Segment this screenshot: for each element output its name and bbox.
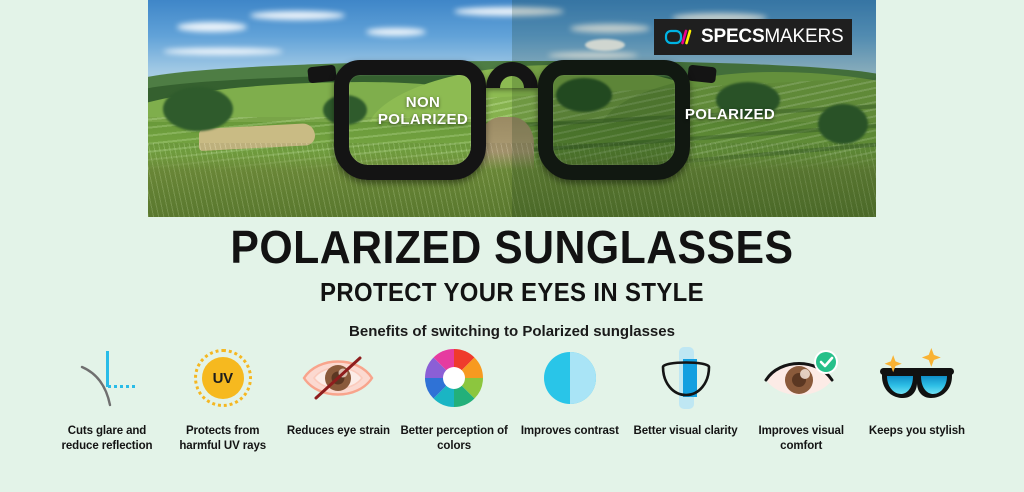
benefit-label: Better visual clarity [631, 424, 741, 439]
benefit-label: Reduces eye strain [283, 424, 393, 439]
specsmakers-logo-text: SPECSMAKERS [701, 26, 843, 48]
sunglasses-sparkle-icon [874, 350, 960, 406]
benefit-item-uv-protection: UV Protects from harmful UV rays [168, 342, 278, 454]
benefit-label: Cuts glare and reduce reflection [52, 424, 162, 454]
nose-bridge [486, 62, 538, 88]
benefit-icon-wrap [862, 342, 972, 414]
temple-right [687, 65, 717, 84]
logo-brand-light: MAKERS [764, 26, 843, 47]
lens-label-non-polarized: NON POLARIZED [358, 94, 488, 129]
benefit-label: Protects from harmful UV rays [168, 424, 278, 454]
benefits-row: Cuts glare and reduce reflection UV Prot… [52, 342, 972, 454]
page-tagline: Benefits of switching to Polarized sungl… [0, 323, 1024, 340]
temple-left [307, 65, 337, 84]
benefit-item-visual-clarity: Better visual clarity [631, 342, 741, 439]
glare-reflection-icon [76, 347, 138, 409]
title-block: POLARIZED SUNGLASSES PROTECT YOUR EYES I… [0, 224, 1024, 340]
page-subtitle: PROTECT YOUR EYES IN STYLE [41, 279, 983, 305]
glare-horizontal-dotted-ray [108, 385, 136, 388]
benefit-icon-wrap [399, 342, 509, 414]
cloud [250, 11, 345, 20]
benefit-icon-wrap: UV [168, 342, 278, 414]
benefit-label: Keeps you stylish [862, 424, 972, 439]
benefit-item-eye-strain: Reduces eye strain [283, 342, 393, 439]
lens-label-line-1: NON [358, 94, 488, 111]
benefit-icon-wrap [52, 342, 162, 414]
specsmakers-logo[interactable]: SPECSMAKERS [654, 19, 852, 55]
infographic-page: NON POLARIZED POLARIZED SPECSMAKERS POLA… [0, 0, 1024, 492]
tree-clump [163, 87, 233, 131]
hero-landscape-image: NON POLARIZED POLARIZED SPECSMAKERS [148, 0, 876, 217]
benefit-item-color-perception: Better perception of colors [399, 342, 509, 454]
benefit-item-stylish: Keeps you stylish [862, 342, 972, 439]
uv-shield-icon: UV [194, 349, 252, 407]
benefit-item-contrast: Improves contrast [515, 342, 625, 439]
tree-clump [818, 104, 868, 144]
benefit-icon-wrap [283, 342, 393, 414]
benefit-item-visual-comfort: Improves visual comfort [746, 342, 856, 454]
benefit-item-cuts-glare: Cuts glare and reduce reflection [52, 342, 162, 454]
uv-dotted-ring [194, 349, 252, 407]
eye-strain-icon [300, 352, 376, 404]
contrast-circle-icon [542, 350, 598, 406]
cloud [570, 24, 650, 33]
cloud [454, 7, 564, 16]
lens-label-polarized: POLARIZED [660, 106, 800, 123]
benefit-label: Improves visual comfort [746, 424, 856, 454]
eye-check-icon [762, 350, 840, 406]
benefit-icon-wrap [631, 342, 741, 414]
benefit-icon-wrap [515, 342, 625, 414]
cloud [177, 22, 247, 32]
benefit-icon-wrap [746, 342, 856, 414]
lens-clarity-icon [653, 345, 719, 411]
benefit-label: Better perception of colors [399, 424, 509, 454]
color-wheel-icon [423, 347, 485, 409]
logo-brand-bold: SPECS [701, 26, 764, 47]
cloud [163, 48, 283, 55]
glare-vertical-ray [106, 351, 109, 387]
page-title: POLARIZED SUNGLASSES [36, 224, 988, 270]
specsmakers-logo-icon [665, 28, 692, 47]
benefit-label: Improves contrast [515, 424, 625, 439]
lens-label-line-2: POLARIZED [358, 111, 488, 128]
cloud-peak [585, 39, 625, 51]
